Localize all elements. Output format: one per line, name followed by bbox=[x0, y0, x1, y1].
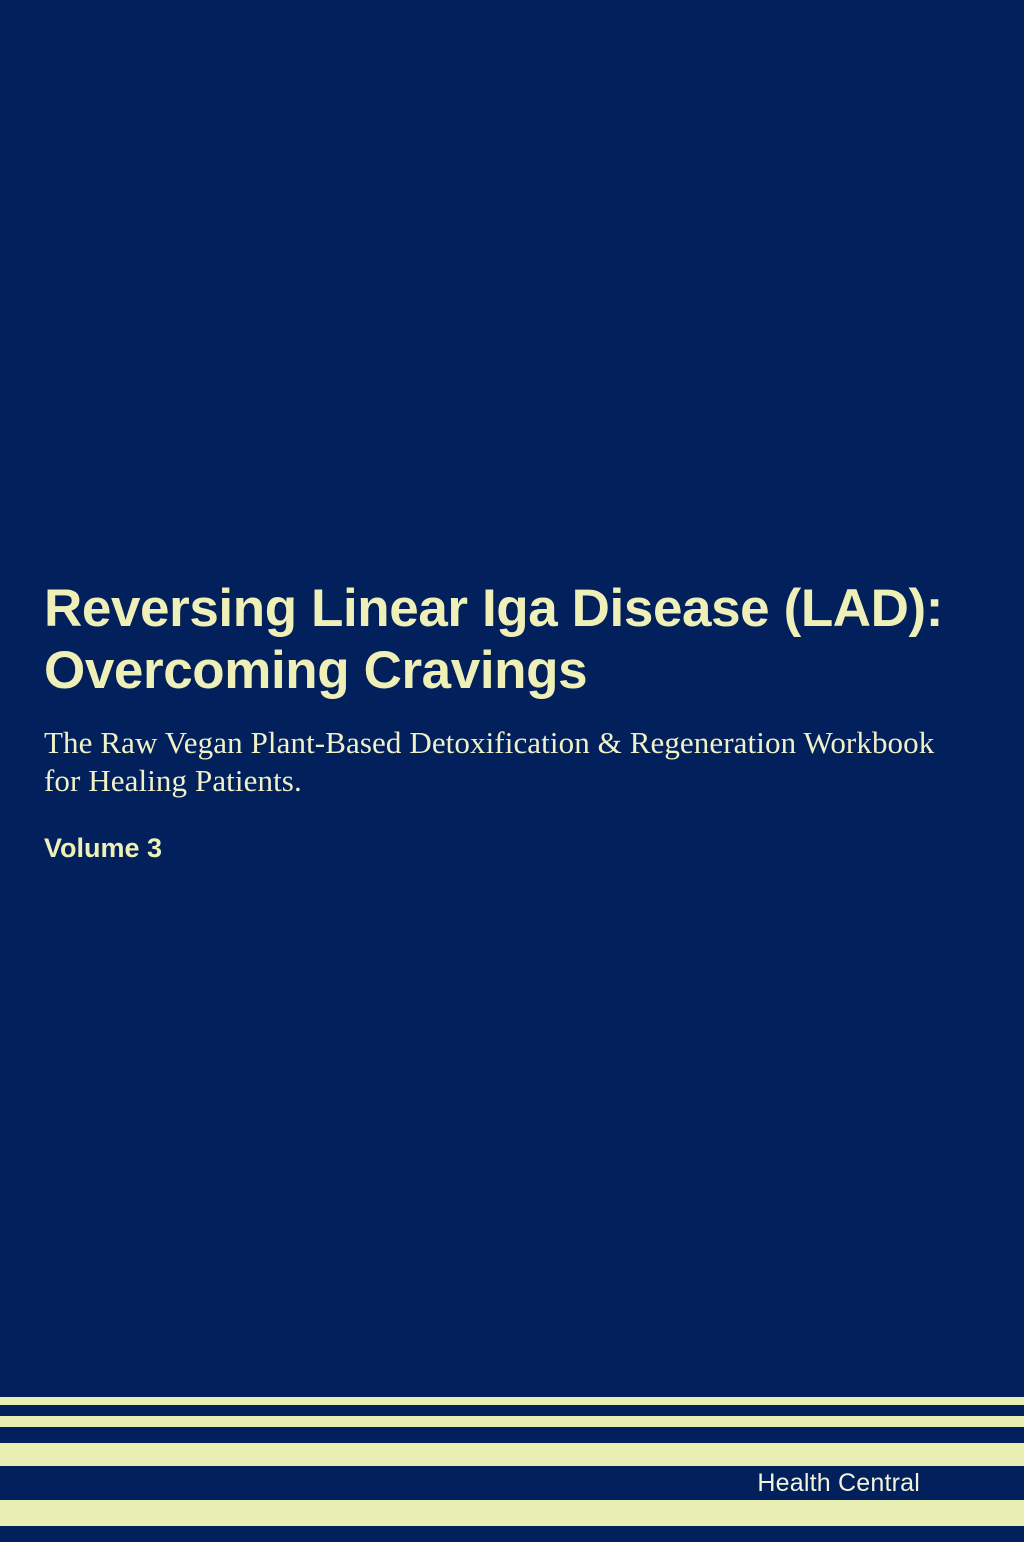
footer-stripe-band: Health Central bbox=[0, 1386, 1024, 1542]
cover-subtitle: The Raw Vegan Plant-Based Detoxification… bbox=[44, 702, 944, 800]
volume-label: Volume 3 bbox=[44, 800, 944, 864]
cover-text-block: Reversing Linear Iga Disease (LAD): Over… bbox=[44, 578, 944, 863]
stripe-navy-2 bbox=[0, 1405, 1024, 1416]
stripe-navy-3 bbox=[0, 1427, 1024, 1443]
stripe-cream-3 bbox=[0, 1443, 1024, 1466]
stripe-cream-1 bbox=[0, 1397, 1024, 1405]
publisher-name: Health Central bbox=[757, 1471, 1024, 1496]
page-title: Reversing Linear Iga Disease (LAD): Over… bbox=[44, 578, 944, 702]
stripe-cream-4 bbox=[0, 1500, 1024, 1526]
brand-band: Health Central bbox=[0, 1466, 1024, 1500]
stripe-navy-5 bbox=[0, 1526, 1024, 1542]
stripe-navy-1 bbox=[0, 1386, 1024, 1397]
stripe-cream-2 bbox=[0, 1416, 1024, 1427]
book-cover: Reversing Linear Iga Disease (LAD): Over… bbox=[0, 0, 1024, 1542]
